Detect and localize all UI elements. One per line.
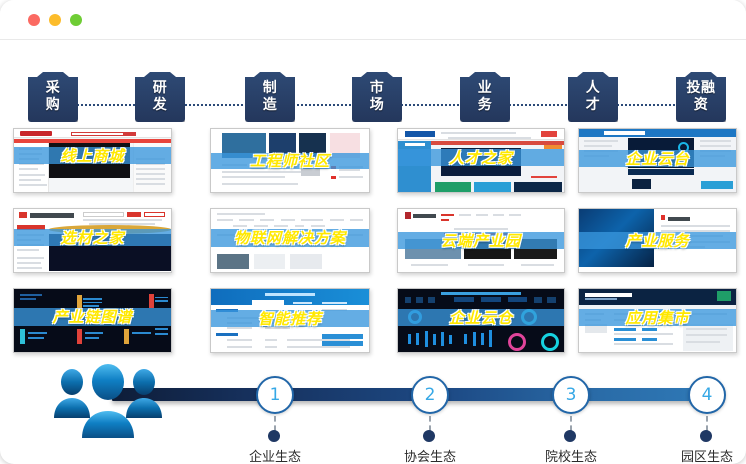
people-group-icon — [42, 364, 174, 442]
timeline-node-stem — [274, 416, 276, 431]
browser-window: 采 购 研 发 制 造 市 场 业 务 人 才 — [0, 0, 746, 464]
product-card-talent-home[interactable]: 人才之家 — [397, 128, 565, 193]
product-label: 物联网解决方案 — [234, 227, 346, 248]
stage-badge-line-2: 造 — [263, 97, 278, 114]
product-label: 产业服务 — [625, 230, 689, 251]
timeline-node-dot — [268, 430, 280, 442]
product-card-material-selection[interactable]: 选材之家 — [13, 208, 172, 273]
stage-badge-line-2: 购 — [46, 97, 61, 114]
timeline-node-4[interactable]: 4 园区生态 — [688, 376, 726, 414]
product-label: 企业云仓 — [449, 307, 513, 328]
timeline-node-2[interactable]: 2 协会生态 — [411, 376, 449, 414]
timeline-node-number: 1 — [256, 376, 294, 414]
stage-badge-line-1: 研 — [153, 80, 168, 97]
product-card-enterprise-cloud-warehouse[interactable]: 企业云仓 — [397, 288, 565, 353]
stage-badge-line-1: 制 — [263, 80, 278, 97]
timeline-node-dot — [564, 430, 576, 442]
timeline-node-dot — [423, 430, 435, 442]
stage-badge-line-1: 投融 — [687, 80, 716, 97]
product-banner: 企业云台 — [579, 150, 736, 167]
product-label: 工程师社区 — [250, 150, 330, 171]
timeline-node-stem — [570, 416, 572, 431]
product-label: 线上商城 — [60, 145, 124, 166]
stage-badge-procurement[interactable]: 采 购 — [28, 72, 78, 122]
product-banner: 人才之家 — [398, 149, 564, 166]
product-banner: 应用集市 — [579, 309, 736, 326]
product-card-app-market[interactable]: 应用集市 — [578, 288, 737, 353]
window-titlebar — [0, 0, 746, 40]
product-banner: 物联网解决方案 — [211, 229, 369, 247]
product-banner: 企业云仓 — [398, 309, 564, 326]
stage-badge-line-2: 发 — [153, 97, 168, 114]
product-card-enterprise-cloud[interactable]: 企业云台 — [578, 128, 737, 193]
diagram-canvas: 采 购 研 发 制 造 市 场 业 务 人 才 — [0, 40, 746, 464]
stage-badge-line-2: 务 — [478, 97, 493, 114]
product-card-smart-recommend[interactable]: 智能推荐 — [210, 288, 370, 353]
product-banner: 智能推荐 — [211, 310, 369, 328]
stage-badge-line-1: 市 — [370, 80, 385, 97]
timeline-node-stem — [429, 416, 431, 431]
stage-badge-line-2: 才 — [586, 97, 601, 114]
timeline-node-number: 4 — [688, 376, 726, 414]
product-card-iot-solution[interactable]: 物联网解决方案 — [210, 208, 370, 273]
timeline-node-label: 企业生态 — [216, 446, 334, 464]
stage-badge-line-1: 业 — [478, 80, 493, 97]
product-banner: 产业链图谱 — [14, 308, 171, 326]
stage-badge-rnd[interactable]: 研 发 — [135, 72, 185, 122]
timeline-node-stem — [706, 416, 708, 431]
stage-badge-line-2: 场 — [370, 97, 385, 114]
product-banner: 工程师社区 — [211, 153, 369, 169]
product-banner: 云端产业园 — [398, 232, 564, 248]
ecosystem-timeline: 1 企业生态 2 协会生态 3 院校生态 4 园区生态 — [0, 360, 746, 464]
product-banner: 线上商城 — [14, 147, 171, 163]
stage-badge-manufacture[interactable]: 制 造 — [245, 72, 295, 122]
product-card-industry-service[interactable]: 产业服务 — [578, 208, 737, 273]
timeline-node-label: 协会生态 — [371, 446, 489, 464]
product-label: 产业链图谱 — [52, 306, 132, 327]
product-label: 企业云台 — [625, 148, 689, 169]
stage-badge-line-1: 人 — [586, 80, 601, 97]
product-banner: 产业服务 — [579, 232, 736, 248]
stage-badge-line-2: 资 — [694, 97, 709, 114]
maximize-button[interactable] — [70, 14, 82, 26]
stage-badge-market[interactable]: 市 场 — [352, 72, 402, 122]
timeline-node-dot — [700, 430, 712, 442]
timeline-node-label: 院校生态 — [512, 446, 630, 464]
stage-badge-line-1: 采 — [46, 80, 61, 97]
product-card-industry-chain-map[interactable]: 产业链图谱 — [13, 288, 172, 353]
timeline-node-3[interactable]: 3 院校生态 — [552, 376, 590, 414]
timeline-node-label: 园区生态 — [648, 446, 746, 464]
close-button[interactable] — [28, 14, 40, 26]
product-label: 应用集市 — [625, 307, 689, 328]
stage-badge-investment[interactable]: 投融 资 — [676, 72, 726, 122]
product-label: 智能推荐 — [258, 308, 322, 329]
product-card-engineer-community[interactable]: 工程师社区 — [210, 128, 370, 193]
product-label: 选材之家 — [60, 227, 124, 248]
timeline-node-number: 2 — [411, 376, 449, 414]
timeline-node-number: 3 — [552, 376, 590, 414]
product-card-online-mall[interactable]: 线上商城 — [13, 128, 172, 193]
product-banner: 选材之家 — [14, 229, 171, 246]
stage-badge-business[interactable]: 业 务 — [460, 72, 510, 122]
product-card-cloud-industry-park[interactable]: 云端产业园 — [397, 208, 565, 273]
product-label: 云端产业园 — [441, 230, 521, 251]
stage-badge-talent[interactable]: 人 才 — [568, 72, 618, 122]
product-label: 人才之家 — [449, 147, 513, 168]
minimize-button[interactable] — [49, 14, 61, 26]
value-chain-rail: 采 购 研 发 制 造 市 场 业 务 人 才 — [0, 56, 746, 122]
timeline-node-1[interactable]: 1 企业生态 — [256, 376, 294, 414]
